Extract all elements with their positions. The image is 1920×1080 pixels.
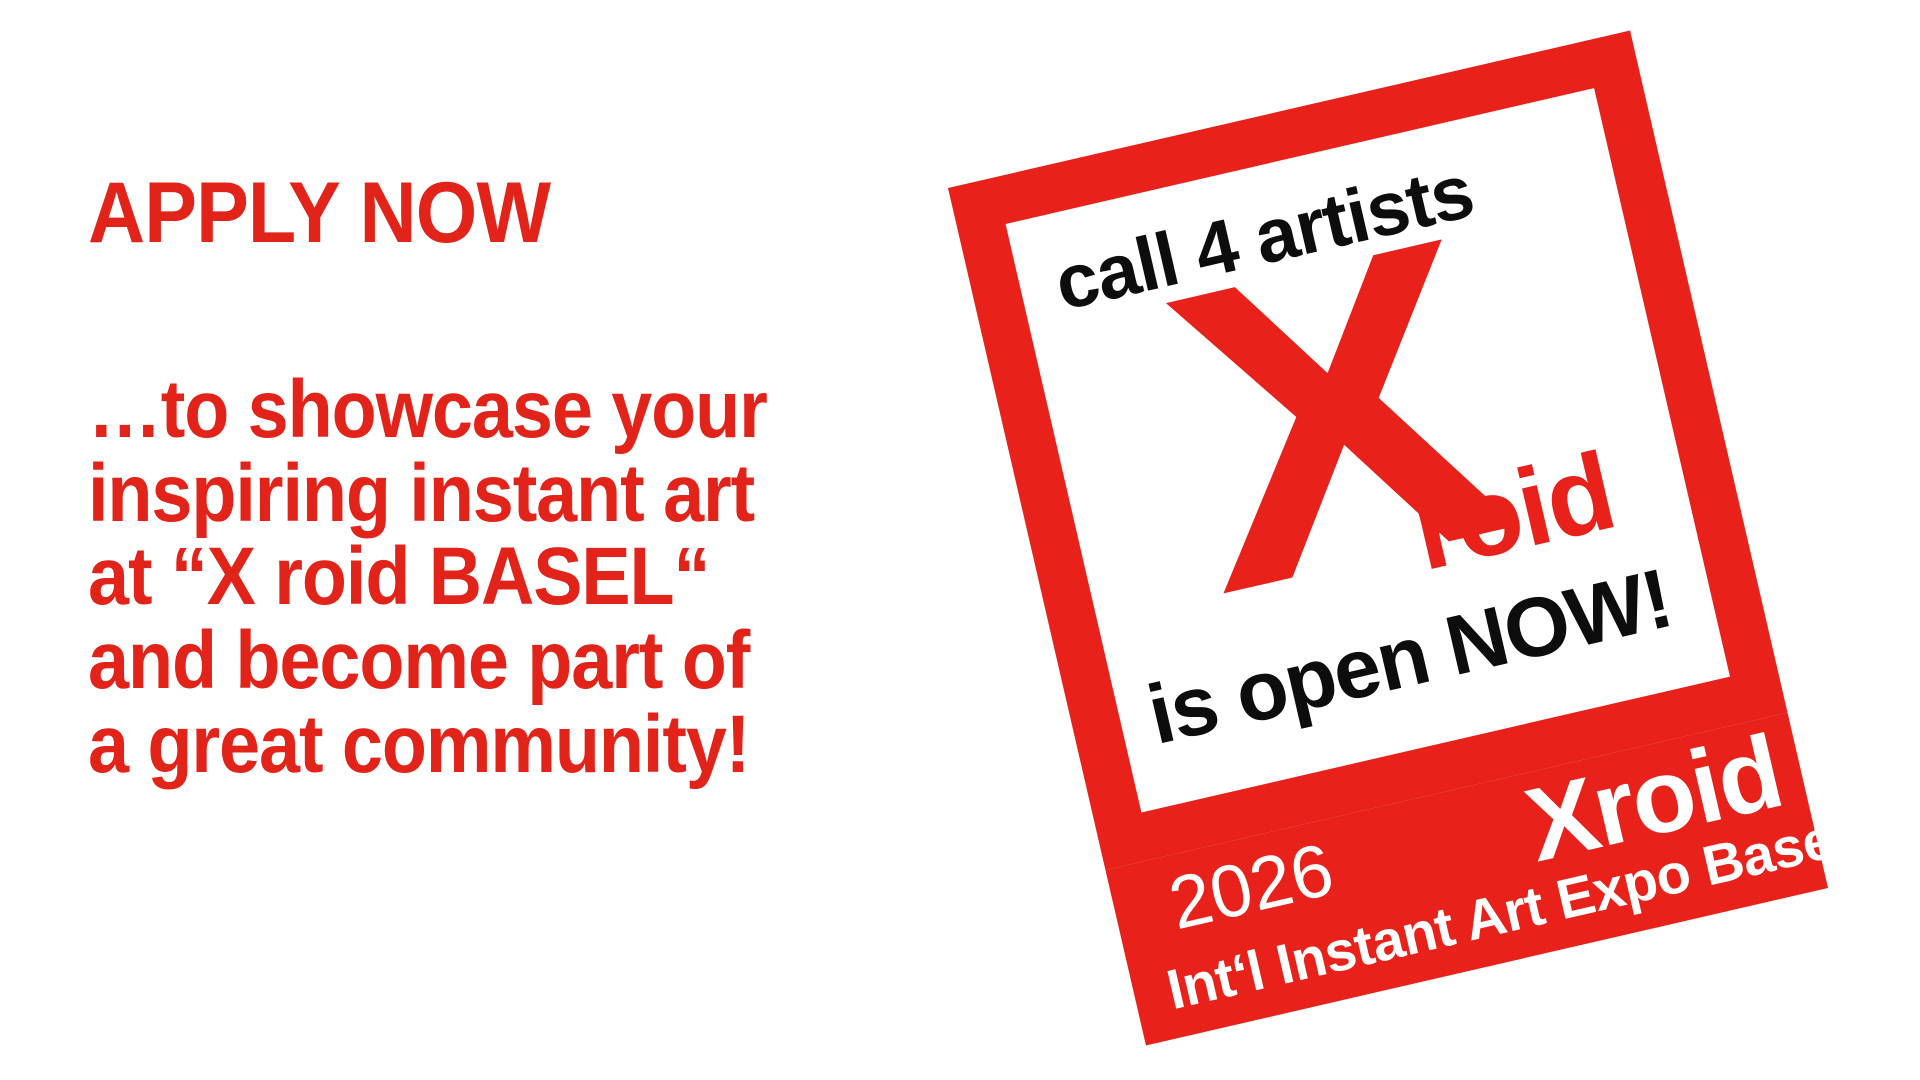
body-copy-line-5: a great community! [88, 703, 934, 787]
page-title: APPLY NOW [88, 170, 953, 256]
body-copy-line-3: at “X roid BASEL“ [88, 535, 934, 619]
poster-card: call 4 artists X roid is open NOW! 2026 … [948, 31, 1828, 1046]
body-copy-line-4: and become part of [88, 619, 934, 703]
body-copy-line-2: inspiring instant art [88, 452, 934, 536]
poster-canvas: APPLY NOW …to showcase your inspiring in… [0, 0, 1920, 1080]
body-copy-line-1: …to showcase your [88, 368, 934, 452]
poster-card-wrapper: call 4 artists X roid is open NOW! 2026 … [1020, 40, 1810, 1040]
call-for-artists-copy: APPLY NOW …to showcase your inspiring in… [88, 170, 1028, 786]
body-copy: …to showcase your inspiring instant art … [88, 368, 934, 786]
